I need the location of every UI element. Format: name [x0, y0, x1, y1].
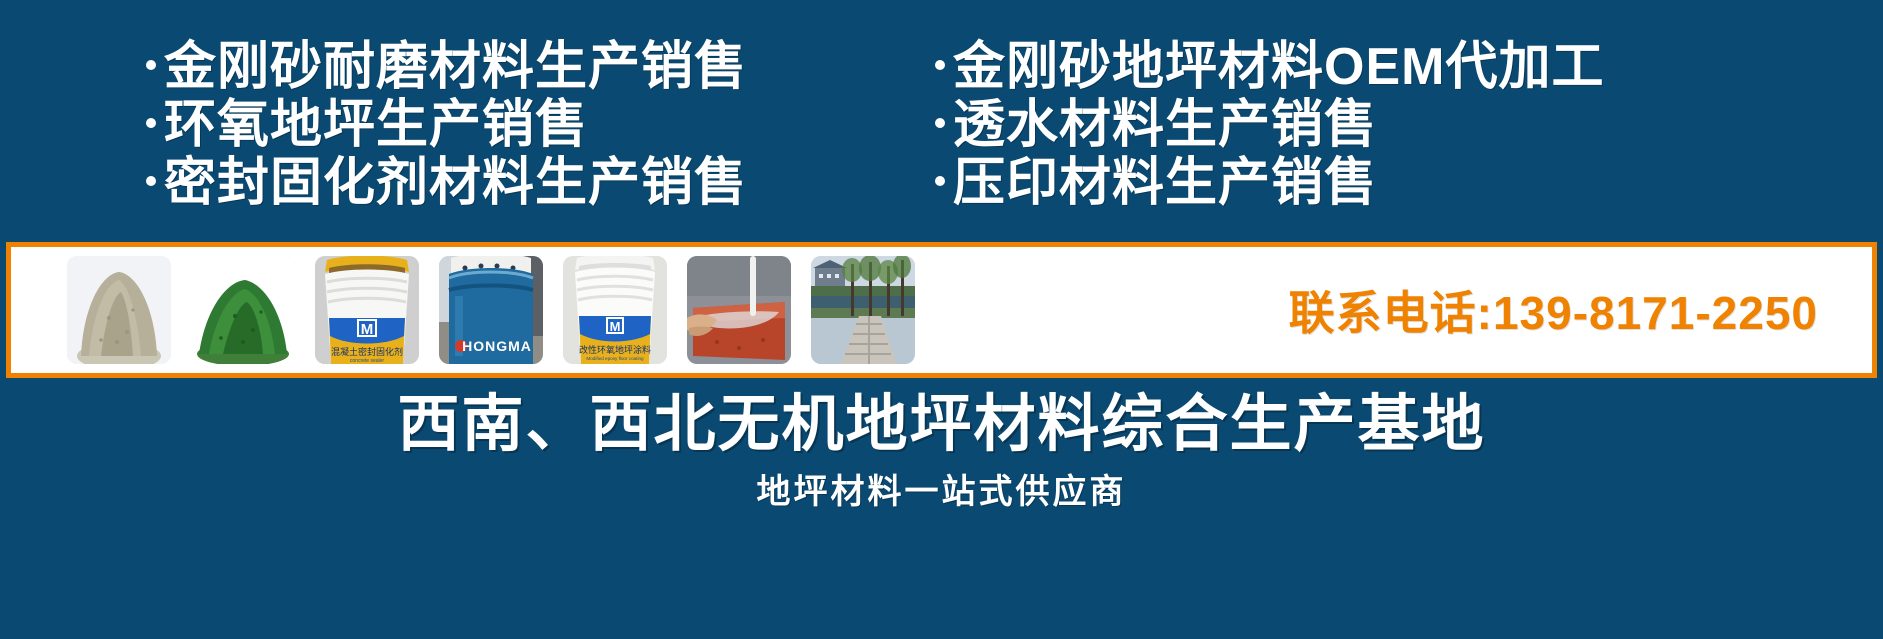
service-item-label: 金刚砂耐磨材料生产销售	[164, 38, 747, 96]
svg-text:M: M	[610, 319, 621, 334]
services-list: 金刚砂耐磨材料生产销售 环氧地坪生产销售 密封固化剂材料生产销售 金刚砂地坪材料…	[0, 0, 1883, 238]
bullet-dot-icon	[935, 176, 945, 186]
paint-pail-icon: M 混凝土密封固化剂 concrete sealer	[315, 256, 419, 364]
product-thumbnail-epoxy-pail: M 改性环氧地坪涂料 Modified epoxy floor coating	[563, 256, 667, 364]
product-thumbnail-list: M 混凝土密封固化剂 concrete sealer	[19, 256, 915, 364]
bullet-dot-icon	[146, 118, 156, 128]
product-thumbnail-permeable-pavement	[811, 256, 915, 364]
stamped-concrete-icon	[687, 256, 791, 364]
bullet-dot-icon	[146, 60, 156, 70]
product-thumbnail-sealer-pail: M 混凝土密封固化剂 concrete sealer	[315, 256, 419, 364]
product-thumbnail-green-powder	[191, 256, 295, 364]
svg-text:HONGMA: HONGMA	[462, 338, 532, 354]
service-item: 环氧地坪生产销售	[146, 96, 925, 154]
grey-powder-pile-icon	[67, 256, 171, 364]
service-item-label: 密封固化剂材料生产销售	[164, 154, 747, 212]
headline-main: 西南、西北无机地坪材料综合生产基地	[0, 388, 1883, 462]
promotional-banner: 金刚砂耐磨材料生产销售 环氧地坪生产销售 密封固化剂材料生产销售 金刚砂地坪材料…	[0, 0, 1883, 639]
bullet-dot-icon	[935, 118, 945, 128]
service-item-label: 压印材料生产销售	[953, 154, 1377, 212]
bullet-dot-icon	[146, 176, 156, 186]
service-item-label: 环氧地坪生产销售	[164, 96, 588, 154]
svg-text:M: M	[361, 321, 374, 338]
blue-drum-icon: HONGMA	[439, 256, 543, 364]
bullet-dot-icon	[935, 60, 945, 70]
svg-text:Modified epoxy floor coating: Modified epoxy floor coating	[586, 356, 644, 361]
service-item: 密封固化剂材料生产销售	[146, 154, 925, 212]
paint-pail-icon: M 改性环氧地坪涂料 Modified epoxy floor coating	[563, 256, 667, 364]
product-strip: M 混凝土密封固化剂 concrete sealer	[6, 242, 1877, 378]
permeable-pavement-icon	[811, 256, 915, 364]
product-thumbnail-grey-powder	[67, 256, 171, 364]
svg-text:concrete sealer: concrete sealer	[350, 358, 385, 364]
service-item: 压印材料生产销售	[935, 154, 1883, 212]
service-item-label: 透水材料生产销售	[953, 96, 1377, 154]
contact-phone[interactable]: 联系电话:139-8171-2250	[1289, 277, 1864, 343]
services-column-right: 金刚砂地坪材料OEM代加工 透水材料生产销售 压印材料生产销售	[925, 0, 1883, 212]
product-thumbnail-stamped-concrete	[687, 256, 791, 364]
svg-text:改性环氧地坪涂料: 改性环氧地坪涂料	[579, 344, 651, 355]
service-item: 金刚砂地坪材料OEM代加工	[935, 38, 1883, 96]
svg-text:混凝土密封固化剂: 混凝土密封固化剂	[331, 346, 403, 357]
green-powder-pile-icon	[191, 256, 295, 364]
product-thumbnail-blue-drum: HONGMA	[439, 256, 543, 364]
headline-sub: 地坪材料一站式供应商	[0, 470, 1883, 514]
service-item-label: 金刚砂地坪材料OEM代加工	[953, 38, 1604, 96]
service-item: 透水材料生产销售	[935, 96, 1883, 154]
services-column-left: 金刚砂耐磨材料生产销售 环氧地坪生产销售 密封固化剂材料生产销售	[0, 0, 925, 212]
service-item: 金刚砂耐磨材料生产销售	[146, 38, 925, 96]
